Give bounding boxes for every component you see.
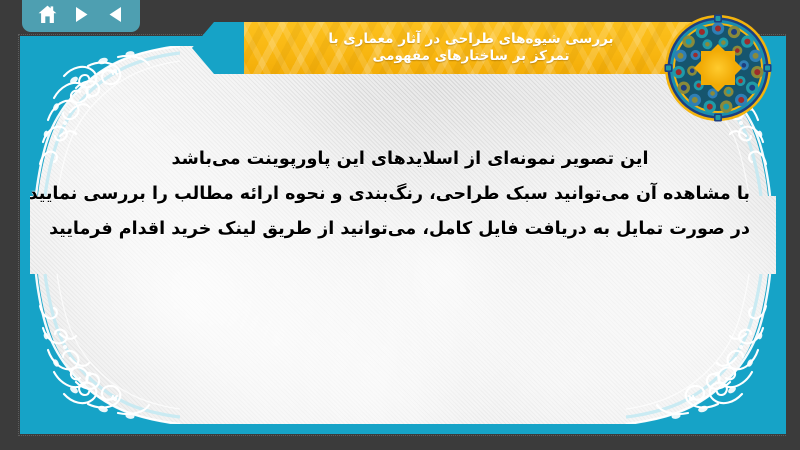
body-line-1: این تصویر نمونه‌ای از اسلایدهای این پاور… — [70, 142, 750, 177]
forward-button[interactable] — [66, 1, 96, 27]
forward-triangle-icon — [72, 5, 91, 24]
header-bar: بررسی شیوه‌های طراحی در آثار معماری باتم… — [0, 0, 800, 40]
slide-stage: این تصویر نمونه‌ای از اسلایدهای این پاور… — [0, 0, 800, 450]
body-line-3: در صورت تمایل به دریافت فایل کامل، می‌تو… — [70, 212, 750, 247]
home-button[interactable] — [32, 1, 62, 27]
slide-frame: این تصویر نمونه‌ای از اسلایدهای این پاور… — [20, 36, 786, 434]
slide-canvas: این تصویر نمونه‌ای از اسلایدهای این پاور… — [30, 46, 776, 424]
slide-body-text: این تصویر نمونه‌ای از اسلایدهای این پاور… — [70, 142, 750, 247]
body-line-2: با مشاهده آن می‌توانید سبک طراحی، رنگ‌بن… — [70, 177, 750, 212]
navigation-buttons — [22, 0, 140, 32]
arabesque-corner-icon — [626, 274, 776, 424]
back-triangle-icon — [106, 5, 125, 24]
arabesque-corner-icon — [30, 274, 180, 424]
back-button[interactable] — [100, 1, 130, 27]
home-icon — [37, 4, 58, 25]
